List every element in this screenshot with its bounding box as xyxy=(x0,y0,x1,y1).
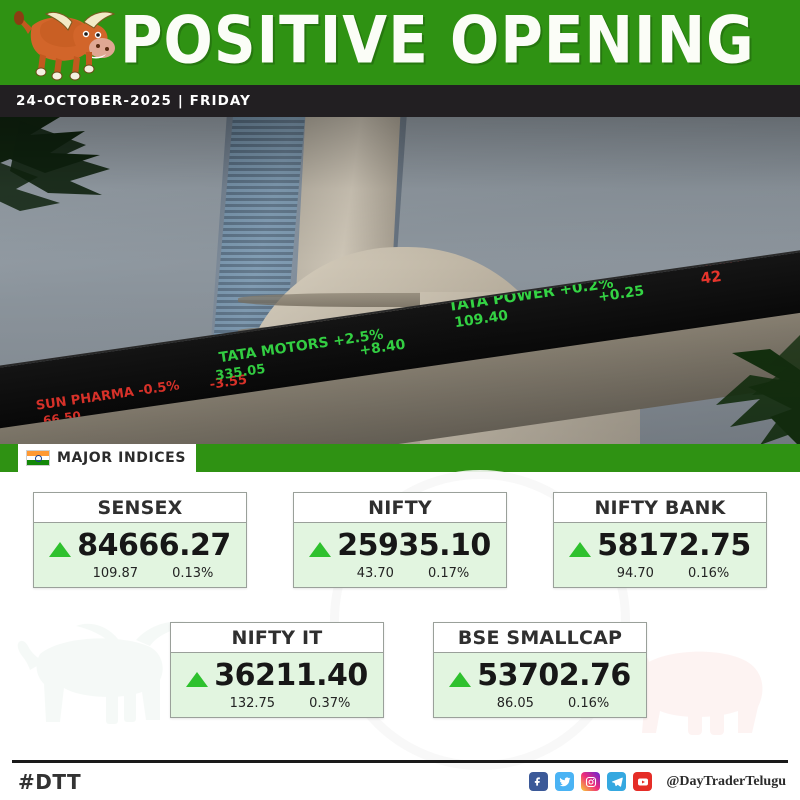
index-change: 86.05 xyxy=(497,696,534,711)
footer: #DTT @DayTraderTelugu xyxy=(0,763,800,800)
card-body: 25935.10 43.70 0.17% xyxy=(294,523,506,587)
index-value: 53702.76 xyxy=(477,661,631,691)
bse-building-photo: SUN PHARMA -0.5% -3.55 66.50 TATA MOTORS… xyxy=(0,117,800,444)
card-header: NIFTY BANK xyxy=(554,493,766,523)
india-flag-icon xyxy=(26,450,50,466)
index-value: 58172.75 xyxy=(597,531,751,561)
index-change: 94.70 xyxy=(617,566,654,581)
header-banner: POSITIVE OPENING xyxy=(0,0,800,85)
index-percent: 0.16% xyxy=(568,696,609,711)
date-text: 24-OCTOBER-2025 | FRIDAY xyxy=(0,93,251,109)
twitter-icon[interactable] xyxy=(555,772,574,791)
poster-root: POSITIVE OPENING 24-OCTOBER-2025 | FRIDA… xyxy=(0,0,800,800)
arrow-up-icon xyxy=(569,542,591,557)
card-header: NIFTY IT xyxy=(171,623,383,653)
hashtag-label: #DTT xyxy=(18,770,81,794)
bull-icon xyxy=(0,0,120,85)
index-percent: 0.17% xyxy=(428,566,469,581)
card-header: NIFTY xyxy=(294,493,506,523)
index-card-nifty-it[interactable]: NIFTY IT 36211.40 132.75 0.37% xyxy=(170,622,384,718)
index-name: NIFTY BANK xyxy=(594,497,725,519)
index-card-nifty[interactable]: NIFTY 25935.10 43.70 0.17% xyxy=(293,492,507,588)
arrow-up-icon xyxy=(49,542,71,557)
card-body: 53702.76 86.05 0.16% xyxy=(434,653,646,717)
index-card-bse-smallcap[interactable]: BSE SMALLCAP 53702.76 86.05 0.16% xyxy=(433,622,647,718)
card-body: 84666.27 109.87 0.13% xyxy=(34,523,246,587)
card-header: SENSEX xyxy=(34,493,246,523)
arrow-up-icon xyxy=(449,672,471,687)
index-name: SENSEX xyxy=(97,497,182,519)
index-percent: 0.16% xyxy=(688,566,729,581)
index-change: 132.75 xyxy=(230,696,276,711)
card-body: 36211.40 132.75 0.37% xyxy=(171,653,383,717)
date-bar: 24-OCTOBER-2025 | FRIDAY xyxy=(0,85,800,117)
index-value: 84666.27 xyxy=(77,531,231,561)
index-card-sensex[interactable]: SENSEX 84666.27 109.87 0.13% xyxy=(33,492,247,588)
index-value: 36211.40 xyxy=(214,661,368,691)
major-indices-bar: MAJOR INDICES xyxy=(0,444,800,472)
index-percent: 0.13% xyxy=(172,566,213,581)
index-change: 43.70 xyxy=(357,566,394,581)
index-name: NIFTY IT xyxy=(232,627,323,649)
index-change: 109.87 xyxy=(93,566,139,581)
telegram-icon[interactable] xyxy=(607,772,626,791)
index-name: BSE SMALLCAP xyxy=(458,627,622,649)
card-header: BSE SMALLCAP xyxy=(434,623,646,653)
arrow-up-icon xyxy=(309,542,331,557)
section-label: MAJOR INDICES xyxy=(18,444,196,472)
social-links: @DayTraderTelugu xyxy=(529,772,786,791)
index-value: 25935.10 xyxy=(337,531,491,561)
indices-cards: SENSEX 84666.27 109.87 0.13% NIFTY xyxy=(0,472,800,752)
instagram-icon[interactable] xyxy=(581,772,600,791)
index-card-nifty-bank[interactable]: NIFTY BANK 58172.75 94.70 0.16% xyxy=(553,492,767,588)
page-title: POSITIVE OPENING xyxy=(120,0,800,85)
social-handle[interactable]: @DayTraderTelugu xyxy=(666,774,786,790)
arrow-up-icon xyxy=(186,672,208,687)
card-body: 58172.75 94.70 0.16% xyxy=(554,523,766,587)
index-percent: 0.37% xyxy=(309,696,350,711)
index-name: NIFTY xyxy=(368,497,432,519)
youtube-icon[interactable] xyxy=(633,772,652,791)
facebook-icon[interactable] xyxy=(529,772,548,791)
photo-vignette xyxy=(0,117,800,444)
section-title: MAJOR INDICES xyxy=(57,450,186,466)
